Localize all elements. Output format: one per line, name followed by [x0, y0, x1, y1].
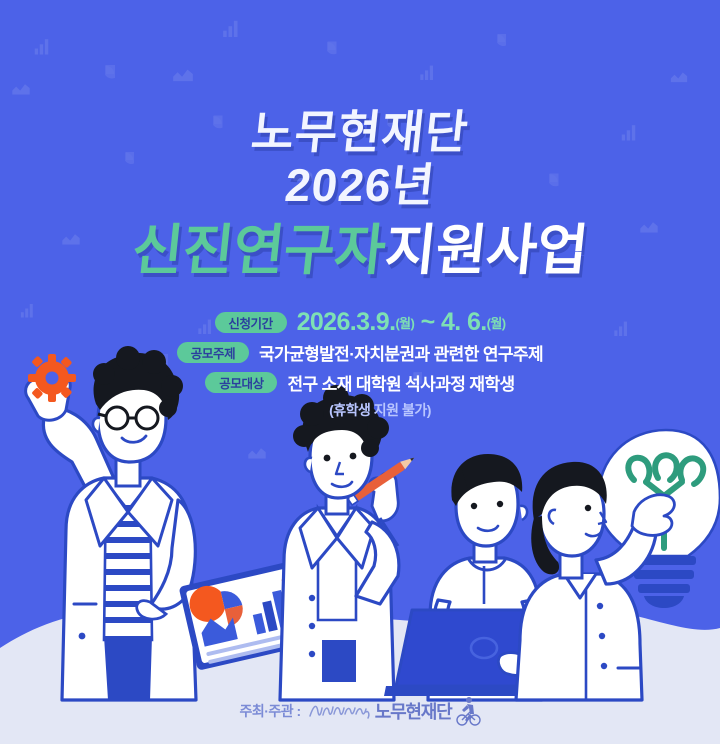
signature-script-icon — [308, 700, 372, 722]
area-chart-icon — [248, 447, 266, 458]
area-chart-icon — [173, 69, 193, 82]
lightbulb-icon — [598, 430, 720, 608]
info-row-topic: 공모주제 국가균형발전·자치분권과 관련한 연구주제 — [0, 340, 720, 365]
period-end-day: (월) — [487, 316, 506, 331]
poster-root: 노무현재단 2026년 신진연구자지원사업 신청기간 2026.3.9.(월) … — [0, 0, 720, 744]
foundation-name: 노무현재단 — [375, 698, 452, 724]
period-start-day: (월) — [395, 316, 414, 331]
poster-title-highlight: 신진연구자 — [129, 219, 389, 281]
pie-chart-icon — [490, 34, 506, 50]
area-chart-icon — [12, 83, 30, 94]
pencil-icon — [347, 454, 417, 505]
application-period-value: 2026.3.9.(월) ~ 4. 6.(월) — [297, 310, 506, 335]
headline-block: 노무현재단 2026년 신진연구자지원사업 — [0, 108, 720, 285]
badge-application-period: 신청기간 — [215, 312, 287, 333]
area-chart-icon — [671, 72, 688, 83]
footer: 주최·주관 : 노무현재단 — [0, 696, 720, 726]
pie-chart-icon — [97, 65, 115, 83]
info-row-application-period: 신청기간 2026.3.9.(월) ~ 4. 6.(월) — [0, 310, 720, 335]
poster-title-line-1: 노무현재단 — [0, 108, 720, 156]
eligibility-value: 전구 소재 대학원 석사과정 재학생 — [287, 370, 514, 395]
info-row-eligibility: 공모대상 전구 소재 대학원 석사과정 재학생 — [0, 370, 720, 395]
period-separator: ~ 4. 6. — [414, 308, 486, 336]
cyclist-icon — [455, 696, 481, 726]
pie-chart-icon — [320, 42, 337, 59]
eligibility-subnote: (휴학생 지원 불가) — [40, 400, 720, 420]
poster-title-line-2: 2026년 — [0, 156, 720, 216]
foundation-logo: 노무현재단 — [308, 696, 481, 726]
badge-eligibility: 공모대상 — [205, 372, 277, 393]
bar-chart-icon — [223, 19, 243, 37]
info-block: 신청기간 2026.3.9.(월) ~ 4. 6.(월) 공모주제 국가균형발전… — [0, 310, 720, 420]
poster-title-line-3: 신진연구자지원사업 — [0, 216, 720, 285]
badge-topic: 공모주제 — [177, 342, 249, 363]
footer-organizer-label: 주최·주관 : — [239, 701, 300, 721]
bar-chart-icon — [420, 64, 438, 80]
topic-value: 국가균형발전·자치분권과 관련한 연구주제 — [259, 340, 543, 365]
poster-title-suffix: 지원사업 — [382, 219, 591, 281]
period-start: 2026.3.9. — [297, 308, 396, 336]
bar-chart-icon — [35, 38, 54, 55]
